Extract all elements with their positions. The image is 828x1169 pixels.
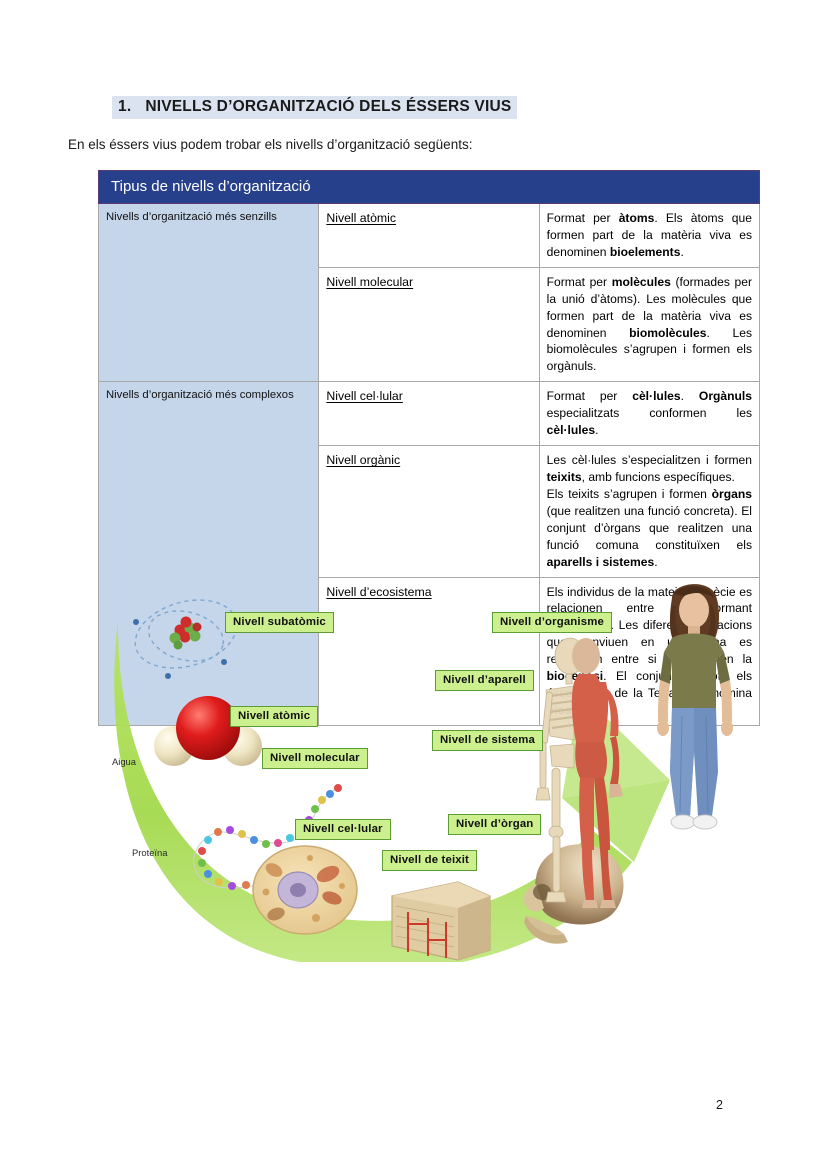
group-label-simple: Nivells d’organització més senzills (99, 204, 319, 382)
person-illustration (638, 576, 750, 848)
figure-caption-protein: Proteïna (132, 847, 167, 858)
figure-label-molecular: Nivell molecular (262, 748, 368, 769)
level-description: Format per molècules (formades per la un… (539, 267, 759, 382)
figure-label-cellular: Nivell cel·lular (295, 819, 391, 840)
table-header-title: Tipus de nivells d’organització (99, 171, 760, 204)
figure-label-tissue: Nivell de teixit (382, 850, 477, 871)
figure-label-atomic: Nivell atòmic (230, 706, 318, 727)
level-name: Nivell atòmic (319, 204, 539, 268)
animal-cell-illustration (250, 840, 360, 938)
table-row: Nivells d’organització més complexos Niv… (99, 382, 760, 446)
level-name: Nivell molecular (319, 267, 539, 382)
table-header-row: Tipus de nivells d’organització (99, 171, 760, 204)
figure-label-subatomic: Nivell subatòmic (225, 612, 334, 633)
water-molecule-illustration (146, 684, 274, 780)
level-description: Les cèl·lules s’especialitzen i formen t… (539, 446, 759, 577)
heading-text: NIVELLS D’ORGANITZACIÓ DELS ÉSSERS VIUS (145, 98, 511, 115)
figure-label-organism: Nivell d’organisme (492, 612, 612, 633)
figure-label-apparatus: Nivell d’aparell (435, 670, 534, 691)
figure-label-organ: Nivell d’òrgan (448, 814, 541, 835)
page-number: 2 (716, 1098, 723, 1112)
intro-paragraph: En els éssers vius podem trobar els nive… (68, 137, 472, 152)
bone-tissue-illustration (382, 862, 500, 962)
heading-number: 1. (118, 98, 131, 115)
level-name: Nivell cel·lular (319, 382, 539, 446)
level-description: Format per cèl·lules. Orgànuls especiali… (539, 382, 759, 446)
figure-label-system: Nivell de sistema (432, 730, 543, 751)
level-name: Nivell orgànic (319, 446, 539, 577)
table-row: Nivells d’organització més senzills Nive… (99, 204, 760, 268)
levels-of-organization-figure: Nivell subatòmic Nivell atòmic Nivell mo… (110, 562, 740, 962)
subatomic-particle-illustration (128, 590, 248, 686)
document-page: 1.NIVELLS D’ORGANITZACIÓ DELS ÉSSERS VIU… (0, 0, 828, 1169)
page-title: 1.NIVELLS D’ORGANITZACIÓ DELS ÉSSERS VIU… (112, 96, 517, 119)
figure-caption-water: Aigua (112, 756, 136, 767)
level-description: Format per àtoms. Els àtoms que formen p… (539, 204, 759, 268)
skeleton-muscle-figure-illustration (524, 636, 642, 912)
